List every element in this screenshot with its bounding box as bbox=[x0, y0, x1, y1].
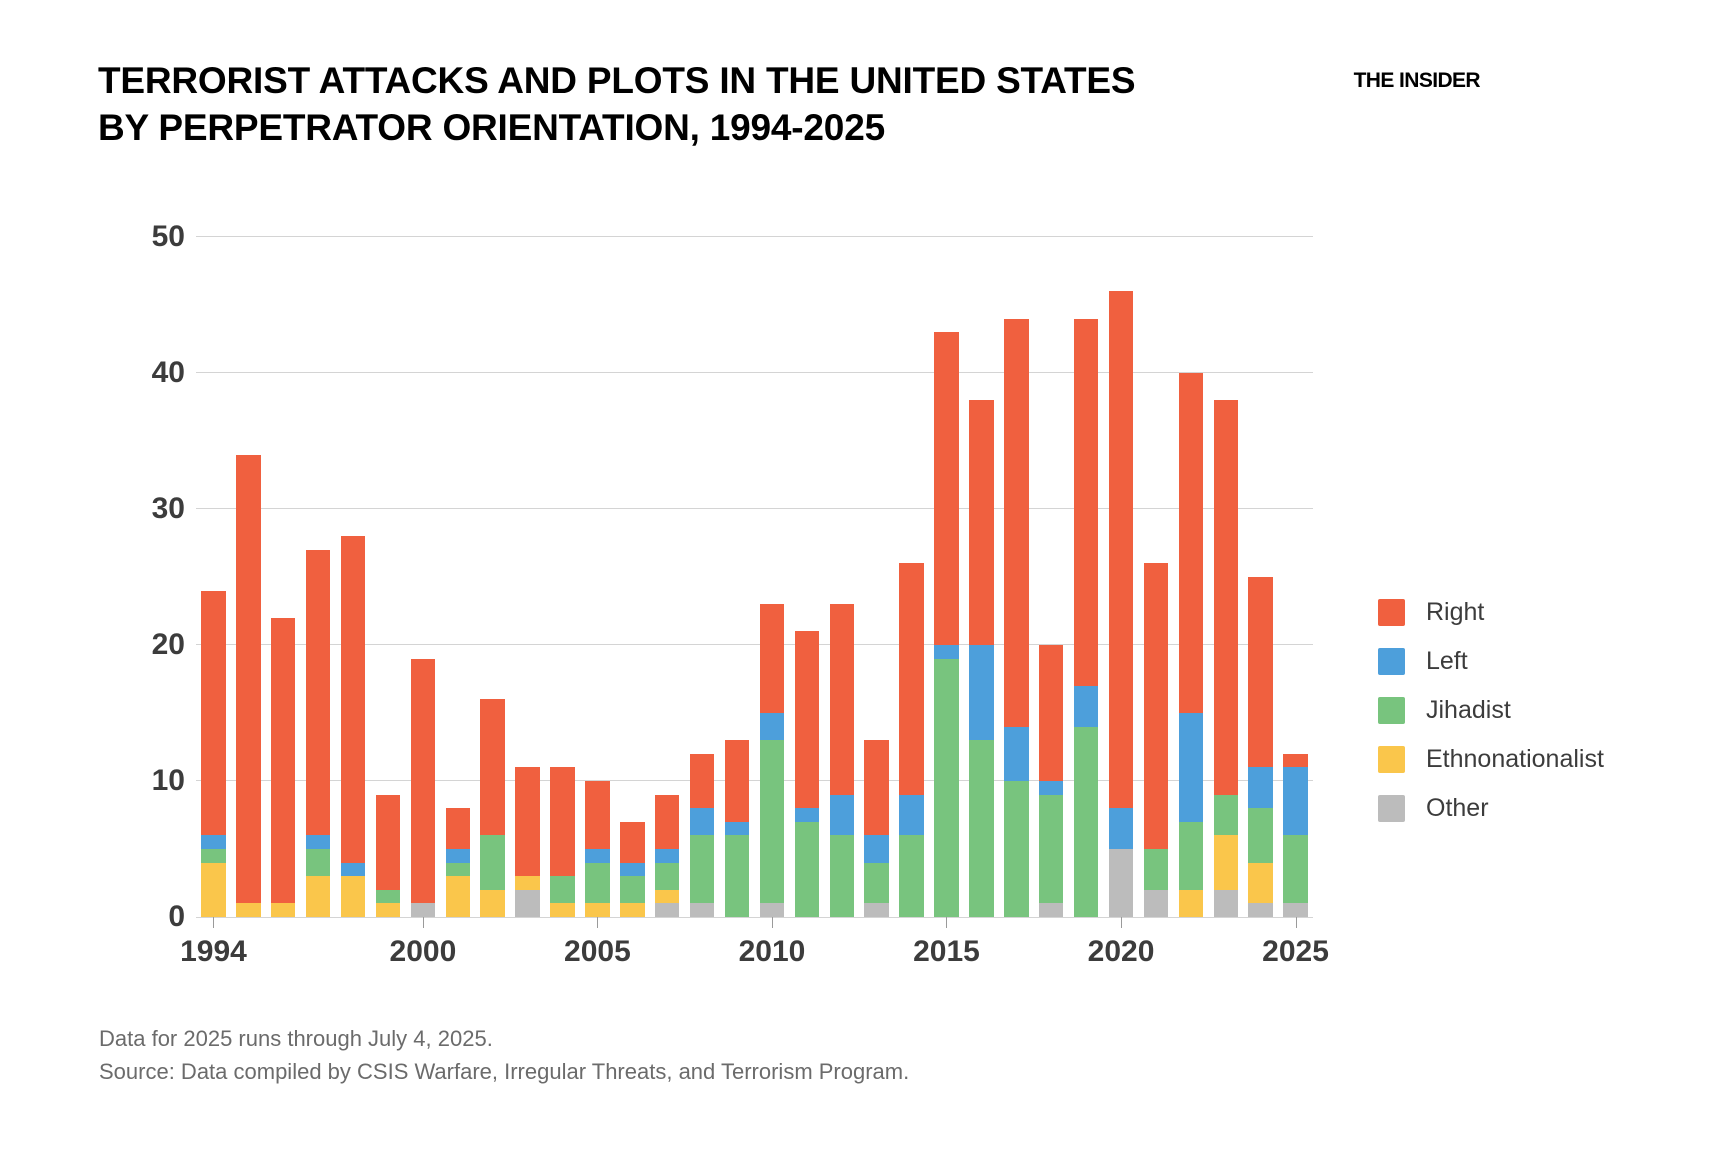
bar-column[interactable] bbox=[1074, 319, 1098, 917]
bar-segment-right[interactable] bbox=[1144, 563, 1168, 849]
bar-segment-ethnonationalist[interactable] bbox=[376, 903, 400, 917]
legend-item-ethnonationalist[interactable]: Ethnonationalist bbox=[1378, 735, 1698, 784]
bar-segment-right[interactable] bbox=[480, 699, 504, 835]
bar-segment-left[interactable] bbox=[969, 645, 993, 740]
x-axis-tick-label: 1994 bbox=[153, 935, 273, 969]
bar-segment-jihadist[interactable] bbox=[969, 740, 993, 917]
bar-segment-left[interactable] bbox=[864, 835, 888, 862]
footer: Data for 2025 runs through July 4, 2025.… bbox=[99, 1022, 1399, 1089]
bar-segment-jihadist[interactable] bbox=[830, 835, 854, 917]
bar-segment-jihadist[interactable] bbox=[201, 849, 225, 863]
bar-segment-jihadist[interactable] bbox=[795, 822, 819, 917]
y-axis: 01020304050 bbox=[86, 237, 186, 917]
bar-segment-right[interactable] bbox=[1248, 577, 1272, 767]
bar-segment-right[interactable] bbox=[1004, 319, 1028, 727]
legend: RightLeftJihadistEthnonationalistOther bbox=[1378, 588, 1698, 833]
legend-label: Jihadist bbox=[1426, 696, 1511, 725]
bar-segment-ethnonationalist[interactable] bbox=[480, 890, 504, 917]
bar-segment-other[interactable] bbox=[1283, 903, 1307, 917]
bar-column[interactable] bbox=[515, 767, 539, 917]
bar-segment-jihadist[interactable] bbox=[934, 659, 958, 917]
bar-segment-left[interactable] bbox=[760, 713, 784, 740]
bar-column[interactable] bbox=[690, 754, 714, 917]
x-axis-tick-label: 2010 bbox=[712, 935, 832, 969]
bar-segment-jihadist[interactable] bbox=[899, 835, 923, 917]
bar-segment-ethnonationalist[interactable] bbox=[271, 903, 295, 917]
bar-segment-right[interactable] bbox=[550, 767, 574, 876]
bar-column[interactable] bbox=[480, 699, 504, 917]
bar-segment-left[interactable] bbox=[690, 808, 714, 835]
bar-segment-other[interactable] bbox=[864, 903, 888, 917]
bar-segment-jihadist[interactable] bbox=[864, 863, 888, 904]
bar-segment-other[interactable] bbox=[1144, 890, 1168, 917]
bar-segment-right[interactable] bbox=[201, 591, 225, 836]
bar-segment-ethnonationalist[interactable] bbox=[585, 903, 609, 917]
bar-column[interactable] bbox=[1004, 319, 1028, 917]
bar-segment-right[interactable] bbox=[376, 795, 400, 890]
bar-segment-left[interactable] bbox=[1039, 781, 1063, 795]
x-axis-tick-label: 2000 bbox=[363, 935, 483, 969]
bar-segment-right[interactable] bbox=[306, 550, 330, 836]
x-axis-tick-mark bbox=[213, 917, 214, 928]
bar-segment-other[interactable] bbox=[760, 903, 784, 917]
bar-column[interactable] bbox=[201, 591, 225, 917]
legend-label: Other bbox=[1426, 794, 1489, 823]
legend-item-right[interactable]: Right bbox=[1378, 588, 1698, 637]
y-axis-tick-label: 0 bbox=[95, 900, 185, 934]
legend-label: Right bbox=[1426, 598, 1484, 627]
x-axis-tick-mark bbox=[423, 917, 424, 928]
bar-segment-left[interactable] bbox=[1109, 808, 1133, 849]
bar-segment-other[interactable] bbox=[1039, 903, 1063, 917]
bar-segment-left[interactable] bbox=[620, 863, 644, 877]
bar-segment-ethnonationalist[interactable] bbox=[620, 903, 644, 917]
bar-segment-left[interactable] bbox=[1179, 713, 1203, 822]
bar-segment-right[interactable] bbox=[515, 767, 539, 876]
bar-segment-jihadist[interactable] bbox=[446, 863, 470, 877]
bar-segment-ethnonationalist[interactable] bbox=[1179, 890, 1203, 917]
bar-column[interactable] bbox=[550, 767, 574, 917]
x-axis-tick-mark bbox=[1121, 917, 1122, 928]
bar-segment-right[interactable] bbox=[760, 604, 784, 713]
bar-segment-jihadist[interactable] bbox=[480, 835, 504, 889]
chart-header: TERRORIST ATTACKS AND PLOTS IN THE UNITE… bbox=[0, 0, 1732, 170]
bar-column[interactable] bbox=[306, 550, 330, 917]
x-axis-tick-label: 2015 bbox=[886, 935, 1006, 969]
bar-segment-other[interactable] bbox=[690, 903, 714, 917]
bar-segment-other[interactable] bbox=[1214, 890, 1238, 917]
page-title: TERRORIST ATTACKS AND PLOTS IN THE UNITE… bbox=[98, 58, 1328, 152]
bar-column[interactable] bbox=[899, 563, 923, 917]
bar-segment-jihadist[interactable] bbox=[1179, 822, 1203, 890]
bar-segment-jihadist[interactable] bbox=[760, 740, 784, 903]
legend-item-jihadist[interactable]: Jihadist bbox=[1378, 686, 1698, 735]
bar-column[interactable] bbox=[864, 740, 888, 917]
bar-segment-right[interactable] bbox=[690, 754, 714, 808]
bar-segment-left[interactable] bbox=[585, 849, 609, 863]
plot-area bbox=[196, 237, 1313, 917]
bar-segment-right[interactable] bbox=[446, 808, 470, 849]
x-axis-tick-mark bbox=[597, 917, 598, 928]
bar-column[interactable] bbox=[795, 631, 819, 917]
bar-segment-other[interactable] bbox=[1248, 903, 1272, 917]
bar-segment-right[interactable] bbox=[864, 740, 888, 835]
bar-segment-right[interactable] bbox=[655, 795, 679, 849]
bar-segment-left[interactable] bbox=[830, 795, 854, 836]
bar-segment-right[interactable] bbox=[620, 822, 644, 863]
bar-segment-right[interactable] bbox=[1039, 645, 1063, 781]
bar-segment-right[interactable] bbox=[1109, 291, 1133, 808]
bar-column[interactable] bbox=[1179, 373, 1203, 917]
bar-segment-left[interactable] bbox=[899, 795, 923, 836]
bar-column[interactable] bbox=[1109, 291, 1133, 917]
bar-segment-ethnonationalist[interactable] bbox=[446, 876, 470, 917]
bar-segment-left[interactable] bbox=[341, 863, 365, 877]
bar-segment-jihadist[interactable] bbox=[1248, 808, 1272, 862]
bar-segment-right[interactable] bbox=[236, 455, 260, 904]
bar-column[interactable] bbox=[446, 808, 470, 917]
bar-segment-left[interactable] bbox=[1004, 727, 1028, 781]
bar-segment-ethnonationalist[interactable] bbox=[201, 863, 225, 917]
footnote-data-range: Data for 2025 runs through July 4, 2025. bbox=[99, 1022, 1399, 1055]
bar-segment-other[interactable] bbox=[655, 903, 679, 917]
bar-segment-left[interactable] bbox=[795, 808, 819, 822]
bar-column[interactable] bbox=[411, 659, 435, 917]
x-axis-tick-mark bbox=[772, 917, 773, 928]
x-axis-tick-label: 2020 bbox=[1061, 935, 1181, 969]
x-axis-tick-label: 2005 bbox=[537, 935, 657, 969]
legend-swatch-icon bbox=[1378, 599, 1405, 626]
bar-segment-jihadist[interactable] bbox=[550, 876, 574, 903]
bar-segment-right[interactable] bbox=[1179, 373, 1203, 713]
bar-column[interactable] bbox=[1248, 577, 1272, 917]
bar-segment-ethnonationalist[interactable] bbox=[1214, 835, 1238, 889]
bar-segment-other[interactable] bbox=[1109, 849, 1133, 917]
bar-segment-jihadist[interactable] bbox=[1214, 795, 1238, 836]
bar-segment-jihadist[interactable] bbox=[1004, 781, 1028, 917]
bar-column[interactable] bbox=[341, 536, 365, 917]
bar-column[interactable] bbox=[1039, 645, 1063, 917]
bar-segment-jihadist[interactable] bbox=[620, 876, 644, 903]
legend-item-other[interactable]: Other bbox=[1378, 784, 1698, 833]
bar-segment-left[interactable] bbox=[1283, 767, 1307, 835]
bar-segment-right[interactable] bbox=[341, 536, 365, 862]
x-axis-tick-mark bbox=[946, 917, 947, 928]
bar-segment-right[interactable] bbox=[1214, 400, 1238, 794]
bar-column[interactable] bbox=[969, 400, 993, 917]
legend-label: Ethnonationalist bbox=[1426, 745, 1604, 774]
legend-swatch-icon bbox=[1378, 746, 1405, 773]
bar-column[interactable] bbox=[934, 332, 958, 917]
x-axis-tick-label: 2025 bbox=[1236, 935, 1356, 969]
bar-segment-left[interactable] bbox=[655, 849, 679, 863]
bar-segment-jihadist[interactable] bbox=[306, 849, 330, 876]
bar-segment-right[interactable] bbox=[934, 332, 958, 645]
footnote-source: Source: Data compiled by CSIS Warfare, I… bbox=[99, 1055, 1399, 1088]
bar-segment-jihadist[interactable] bbox=[690, 835, 714, 903]
bar-segment-right[interactable] bbox=[271, 618, 295, 904]
bar-segment-left[interactable] bbox=[1074, 686, 1098, 727]
legend-item-left[interactable]: Left bbox=[1378, 637, 1698, 686]
bar-segment-left[interactable] bbox=[934, 645, 958, 659]
bar-column[interactable] bbox=[236, 455, 260, 917]
bar-segment-right[interactable] bbox=[411, 659, 435, 904]
y-axis-tick-label: 30 bbox=[95, 492, 185, 526]
bar-column[interactable] bbox=[585, 781, 609, 917]
bar-segment-left[interactable] bbox=[201, 835, 225, 849]
bar-segment-ethnonationalist[interactable] bbox=[236, 903, 260, 917]
bar-column[interactable] bbox=[725, 740, 749, 917]
bar-segment-jihadist[interactable] bbox=[585, 863, 609, 904]
bar-segment-ethnonationalist[interactable] bbox=[306, 876, 330, 917]
bar-column[interactable] bbox=[1283, 754, 1307, 917]
y-axis-tick-label: 20 bbox=[95, 628, 185, 662]
bar-segment-right[interactable] bbox=[899, 563, 923, 794]
legend-label: Left bbox=[1426, 647, 1468, 676]
bar-segment-ethnonationalist[interactable] bbox=[550, 903, 574, 917]
y-axis-tick-label: 40 bbox=[95, 356, 185, 390]
bar-segment-jihadist[interactable] bbox=[1283, 835, 1307, 903]
bar-segment-right[interactable] bbox=[830, 604, 854, 794]
brand-logo: THE INSIDER bbox=[1354, 69, 1480, 93]
bar-segment-right[interactable] bbox=[969, 400, 993, 645]
legend-swatch-icon bbox=[1378, 648, 1405, 675]
y-axis-tick-label: 10 bbox=[95, 764, 185, 798]
bar-segment-right[interactable] bbox=[585, 781, 609, 849]
bar-series-group bbox=[196, 237, 1313, 917]
bar-segment-other[interactable] bbox=[515, 890, 539, 917]
bar-segment-left[interactable] bbox=[446, 849, 470, 863]
bar-segment-right[interactable] bbox=[1283, 754, 1307, 768]
bar-segment-right[interactable] bbox=[795, 631, 819, 808]
bar-segment-right[interactable] bbox=[725, 740, 749, 822]
bar-column[interactable] bbox=[760, 604, 784, 917]
bar-segment-other[interactable] bbox=[411, 903, 435, 917]
bar-segment-left[interactable] bbox=[1248, 767, 1272, 808]
x-axis: 1994200020052010201520202025 bbox=[196, 917, 1313, 979]
bar-segment-jihadist[interactable] bbox=[1074, 727, 1098, 917]
bar-column[interactable] bbox=[1214, 400, 1238, 917]
bar-segment-jihadist[interactable] bbox=[655, 863, 679, 890]
bar-segment-left[interactable] bbox=[725, 822, 749, 836]
bar-column[interactable] bbox=[376, 795, 400, 917]
legend-swatch-icon bbox=[1378, 795, 1405, 822]
bar-segment-right[interactable] bbox=[1074, 319, 1098, 686]
y-axis-tick-label: 50 bbox=[95, 220, 185, 254]
bar-column[interactable] bbox=[1144, 563, 1168, 917]
bar-segment-ethnonationalist[interactable] bbox=[341, 876, 365, 917]
bar-column[interactable] bbox=[620, 822, 644, 917]
legend-swatch-icon bbox=[1378, 697, 1405, 724]
bar-segment-jihadist[interactable] bbox=[1144, 849, 1168, 890]
bar-column[interactable] bbox=[271, 618, 295, 917]
bar-segment-ethnonationalist[interactable] bbox=[515, 876, 539, 890]
bar-segment-ethnonationalist[interactable] bbox=[655, 890, 679, 904]
x-axis-tick-mark bbox=[1296, 917, 1297, 928]
bar-segment-jihadist[interactable] bbox=[1039, 795, 1063, 904]
bar-segment-ethnonationalist[interactable] bbox=[1248, 863, 1272, 904]
bar-segment-jihadist[interactable] bbox=[725, 835, 749, 917]
bar-segment-left[interactable] bbox=[306, 835, 330, 849]
bar-column[interactable] bbox=[830, 604, 854, 917]
bar-segment-jihadist[interactable] bbox=[376, 890, 400, 904]
bar-column[interactable] bbox=[655, 795, 679, 917]
